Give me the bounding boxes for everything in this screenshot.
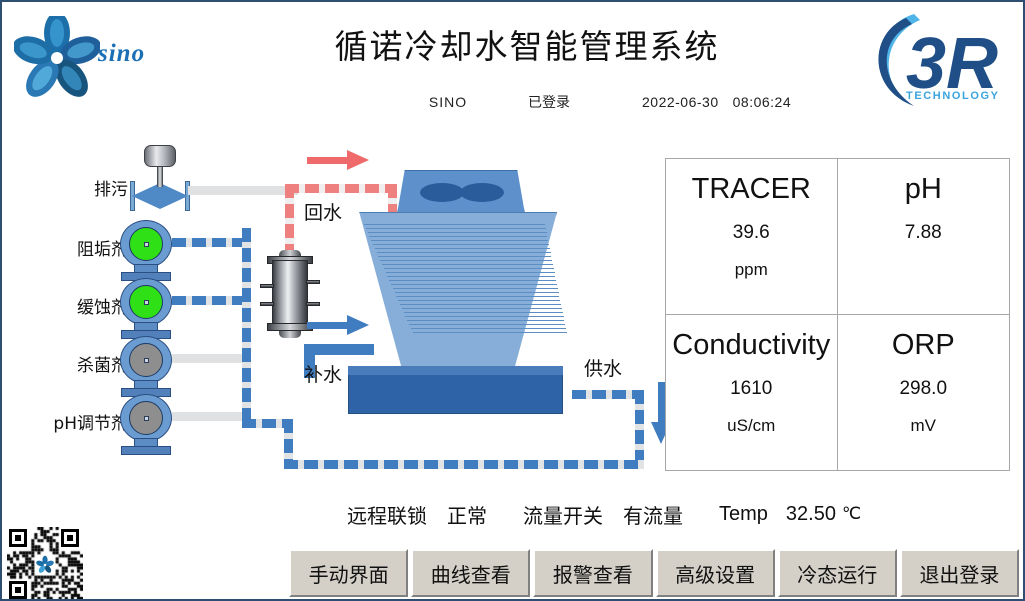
flow-switch-label: 流量开关	[523, 500, 603, 529]
supply-water-return-header	[284, 460, 644, 469]
logout-button[interactable]: 退出登录	[900, 549, 1019, 597]
tower-louvers	[342, 224, 557, 336]
valve-stem	[157, 165, 163, 187]
reading-value: 7.88	[905, 222, 942, 244]
vessel-nozzle-right-lower	[306, 302, 320, 306]
hmi-screen: sino 循诺冷却水智能管理系统 SINO 已登录 2022-06-30 08:…	[0, 0, 1025, 601]
label-return-water: 回水	[304, 198, 342, 225]
header-status-line: SINO 已登录 2022-06-30 08:06:24	[402, 92, 922, 112]
fan-blade-right	[460, 183, 504, 202]
manual-interface-button[interactable]: 手动界面	[289, 549, 408, 597]
qr-finder-tl	[9, 529, 27, 547]
qr-finder-bl	[9, 581, 27, 599]
supply-water-riser-to-vessel	[284, 419, 293, 469]
header-bar: sino 循诺冷却水智能管理系统 SINO 已登录 2022-06-30 08:…	[2, 2, 1023, 120]
navigation-button-bar: 手动界面 曲线查看 报警查看 高级设置 冷态运行 退出登录	[289, 549, 1019, 597]
label-biocide: 杀菌剂	[8, 351, 128, 376]
current-user: SINO	[402, 94, 494, 110]
pump-center-dot	[144, 358, 149, 363]
vessel-bottom-dome	[279, 331, 301, 338]
label-ph-adjust: pH调节剂	[8, 409, 128, 434]
vessel-nozzle-left-lower	[260, 302, 274, 306]
reading-ph: pH 7.88	[838, 159, 1010, 315]
supply-water-downcomer	[635, 390, 644, 468]
qr-center-logo	[35, 555, 55, 575]
vessel-nozzle-right-upper	[306, 280, 320, 284]
3r-technology-logo: 3R TECHNOLOGY	[862, 4, 1017, 116]
flow-switch-value: 有流量	[623, 500, 683, 529]
blowdown-valve[interactable]	[128, 145, 192, 205]
trend-view-button[interactable]: 曲线查看	[411, 549, 530, 597]
label-antiscalant: 阻垢剂	[8, 235, 128, 260]
sino-logo: sino	[10, 10, 160, 105]
temperature-unit: ℃	[842, 504, 861, 524]
login-status: 已登录	[494, 92, 604, 112]
dosing-header-riser	[242, 228, 251, 428]
pump-center-dot	[144, 300, 149, 305]
pump-ph-adjust[interactable]	[120, 394, 176, 450]
sino-logo-text: sino	[98, 40, 145, 68]
reading-value: 39.6	[733, 222, 770, 244]
pump-base	[121, 446, 171, 455]
cooling-tower[interactable]	[342, 170, 602, 420]
measurement-panel: TRACER 39.6 ppm pH 7.88 Conductivity 161…	[665, 158, 1010, 471]
temperature-value: 32.50	[786, 503, 836, 526]
pump-inhibitor[interactable]	[120, 278, 176, 334]
alarm-view-button[interactable]: 报警查看	[533, 549, 652, 597]
valve-body-right	[160, 183, 188, 209]
pump-antiscalant[interactable]	[120, 220, 176, 276]
equipment-label-column: 排污 阻垢剂 缓蚀剂 杀菌剂 pH调节剂	[10, 152, 128, 442]
reading-tracer: TRACER 39.6 ppm	[666, 159, 838, 315]
return-flow-arrow	[347, 150, 369, 170]
reading-orp: ORP 298.0 mV	[838, 315, 1010, 471]
label-inhibitor: 缓蚀剂	[8, 293, 128, 318]
current-date: 2022-06-30	[642, 94, 719, 110]
valve-body-left	[132, 183, 160, 209]
reading-value: 1610	[730, 378, 772, 400]
reading-unit: mV	[911, 416, 937, 436]
advanced-settings-button[interactable]: 高级设置	[656, 549, 775, 597]
dosing-line-inhibitor	[172, 296, 248, 305]
return-water-riser	[285, 184, 294, 256]
remote-interlock-value: 正常	[447, 500, 487, 529]
dosing-line-biocide	[172, 354, 248, 363]
temperature-label: Temp	[719, 503, 768, 526]
dosing-line-antiscalant	[172, 238, 248, 247]
vessel-shell	[272, 260, 308, 328]
tower-fan-housing	[397, 170, 525, 214]
reading-name: Conductivity	[672, 329, 830, 362]
supply-water-outlet	[572, 390, 644, 399]
fan-blade-left	[420, 183, 464, 202]
supply-flow-arrow-shaft	[658, 382, 665, 424]
pump-biocide[interactable]	[120, 336, 176, 392]
valve-actuator	[144, 145, 176, 167]
qr-sino-flower-icon	[35, 555, 55, 575]
dosing-line-ph-adjust	[172, 412, 248, 421]
current-time: 08:06:24	[733, 94, 792, 110]
system-status-row: 远程联锁 正常 流量开关 有流量 Temp 32.50 ℃	[347, 497, 1019, 531]
cold-start-button[interactable]: 冷态运行	[778, 549, 897, 597]
label-supply-water: 供水	[584, 354, 622, 381]
remote-interlock-label: 远程联锁	[347, 500, 427, 529]
pump-center-dot	[144, 416, 149, 421]
qr-finder-tr	[61, 529, 79, 547]
reading-name: pH	[905, 173, 942, 206]
reading-value: 298.0	[899, 378, 947, 400]
tower-basin-lip	[348, 366, 563, 375]
label-blowdown: 排污	[8, 175, 128, 200]
return-flow-arrow-shaft	[307, 157, 349, 164]
reading-name: TRACER	[692, 173, 811, 206]
3r-logo-subtext: TECHNOLOGY	[906, 90, 1000, 102]
qr-code	[7, 527, 83, 601]
reading-unit: uS/cm	[727, 416, 775, 436]
page-title: 循诺冷却水智能管理系统	[257, 20, 797, 68]
blowdown-pipe	[188, 186, 298, 195]
reading-conductivity: Conductivity 1610 uS/cm	[666, 315, 838, 471]
reading-unit: ppm	[735, 260, 768, 280]
reading-name: ORP	[892, 329, 955, 362]
vessel-nozzle-left-upper	[260, 284, 274, 288]
pump-center-dot	[144, 242, 149, 247]
label-makeup-water: 补水	[304, 360, 342, 387]
sino-flower-icon	[14, 16, 100, 100]
